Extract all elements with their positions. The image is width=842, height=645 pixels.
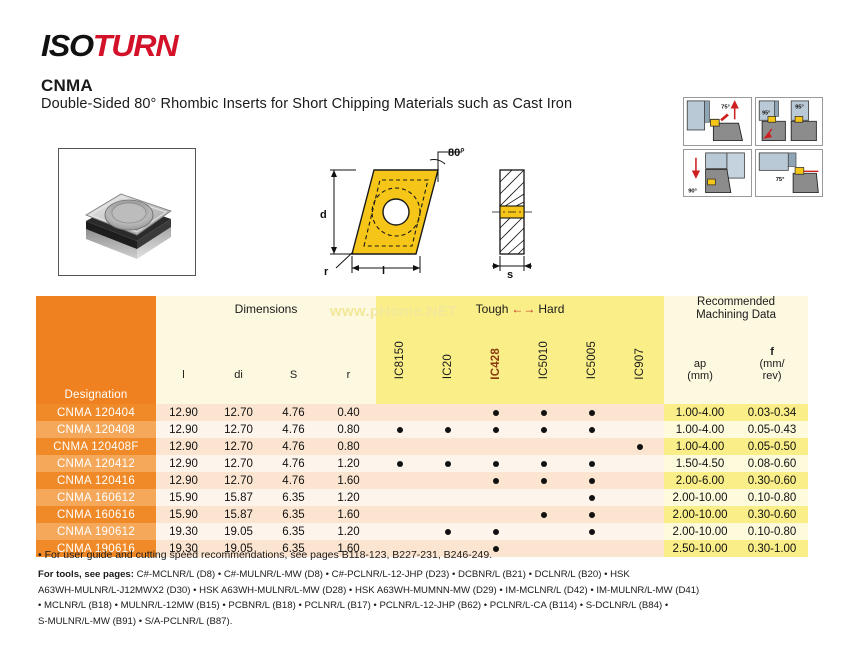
grade-dot-icon [541,407,547,419]
cell-grade-IC907 [616,489,664,506]
cell-dim-r: 1.20 [321,489,376,506]
label-r: r [324,266,329,278]
cell-grade-IC8150 [376,404,424,421]
ap-unit: (mm) [664,370,736,382]
cell-grade-IC20 [424,455,472,472]
grade-dot-icon [589,407,595,419]
holder-angle-2b: 95° [762,110,770,116]
cell-grade-IC5010 [520,472,568,489]
spacer-g0 [376,386,424,404]
cell-ap: 1.00-4.00 [664,438,736,455]
cell-grade-IC8150 [376,489,424,506]
cell-grade-IC8150 [376,506,424,523]
col-header-s: S [266,322,321,386]
cell-ap: 1.00-4.00 [664,421,736,438]
table-designation-label-row: Designation [36,386,808,404]
cell-dim-di: 12.70 [211,472,266,489]
holder-angle-3: 90° [688,188,697,194]
col-header-l: l [156,322,211,386]
cell-dim-l: 12.90 [156,404,211,421]
catalog-page: ISOTURN CNMA Double-Sided 80° Rhombic In… [0,0,842,645]
table-row[interactable]: CNMA 12040812.9012.704.760.801.00-4.000.… [36,421,808,438]
logo-text-turn: TURN [93,28,178,63]
specification-table-container: Dimensions Tough←→Hard Recommended Machi… [36,296,808,557]
page-title: CNMA [41,76,93,96]
table-body: CNMA 12040412.9012.704.760.401.00-4.000.… [36,404,808,557]
col-header-grade-ic428: IC428 [472,322,520,386]
cell-grade-IC8150 [376,455,424,472]
cell-f: 0.08-0.60 [736,455,808,472]
cell-grade-IC5005 [568,438,616,455]
grade-dot-icon [493,526,499,538]
cell-ap: 1.00-4.00 [664,404,736,421]
grade-dot-icon [541,475,547,487]
cell-designation: CNMA 160612 [36,489,156,506]
cell-dim-r: 0.40 [321,404,376,421]
cell-grade-IC5010 [520,489,568,506]
cell-dim-di: 19.05 [211,523,266,540]
tools-text-1: C#-MCLNR/L (D8) • C#-MULNR/L-MW (D8) • C… [134,569,630,580]
cell-designation: CNMA 120412 [36,455,156,472]
cell-grade-IC428 [472,472,520,489]
insert-dimension-drawing: r d l 80° [312,142,557,282]
cell-dim-S: 6.35 [266,523,321,540]
cell-f: 0.10-0.80 [736,523,808,540]
spacer-g4 [568,386,616,404]
cell-dim-r: 1.60 [321,506,376,523]
cell-dim-S: 6.35 [266,489,321,506]
grade-dot-icon [589,526,595,538]
cell-grade-IC5010 [520,421,568,438]
grade-dot-icon [397,424,403,436]
cell-grade-IC5005 [568,455,616,472]
grade-dot-icon [589,424,595,436]
cell-grade-IC907 [616,506,664,523]
cell-dim-di: 12.70 [211,455,266,472]
table-row[interactable]: CNMA 12041212.9012.704.761.201.50-4.500.… [36,455,808,472]
grade-dot-icon [493,424,499,436]
holder-svg-1: 75° [684,98,751,145]
cell-dim-S: 4.76 [266,404,321,421]
grade-dot-icon [445,424,451,436]
cell-dim-S: 4.76 [266,455,321,472]
cell-grade-IC20 [424,472,472,489]
col-header-f: f (mm/ rev) [736,322,808,386]
cell-f: 0.05-0.43 [736,421,808,438]
recommended-line1: Recommended [664,296,808,309]
cell-grade-IC428 [472,421,520,438]
cell-ap: 2.00-10.00 [664,506,736,523]
cell-dim-di: 15.87 [211,506,266,523]
specification-table: Dimensions Tough←→Hard Recommended Machi… [36,296,808,557]
spacer-ap [664,386,736,404]
label-tough: Tough [476,302,509,316]
holder-diagram-1: 75° [683,97,752,146]
cell-designation: CNMA 160616 [36,506,156,523]
cell-ap: 2.00-6.00 [664,472,736,489]
cell-dim-l: 12.90 [156,438,211,455]
tools-line-1: For tools, see pages: C#-MCLNR/L (D8) • … [38,567,820,583]
cell-grade-IC428 [472,489,520,506]
col-header-grade-ic5005: IC5005 [568,322,616,386]
holder-angle-4: 75° [775,177,784,183]
f-unit-1: (mm/ [736,358,808,370]
cell-designation: CNMA 190612 [36,523,156,540]
cell-f: 0.30-0.60 [736,472,808,489]
holder-svg-2: 95° 95° [756,98,823,145]
grade-dot-icon [541,458,547,470]
cell-dim-l: 12.90 [156,421,211,438]
col-header-r: r [321,322,376,386]
cell-designation: CNMA 120416 [36,472,156,489]
cell-grade-IC428 [472,438,520,455]
cell-ap: 2.00-10.00 [664,523,736,540]
tools-line-2: A63WH-MULNR/L-J12MWX2 (D30) • HSK A63WH-… [38,583,820,599]
grade-dot-icon [637,441,643,453]
grade-dot-icon [541,509,547,521]
cell-grade-IC20 [424,506,472,523]
cell-grade-IC8150 [376,472,424,489]
grade-dot-icon [493,407,499,419]
spacer-g3 [520,386,568,404]
spacer-dims [156,386,376,404]
holder-diagram-2: 95° 95° [755,97,824,146]
table-row[interactable]: CNMA 16061615.9015.876.351.602.00-10.000… [36,506,808,523]
tools-line-3: • MCLNR/L (B18) • MULNR/L-12MW (B15) • P… [38,598,820,614]
cell-dim-di: 15.87 [211,489,266,506]
cell-grade-IC8150 [376,438,424,455]
cell-grade-IC428 [472,404,520,421]
header-cell-designation-block [36,296,156,386]
holder-svg-4: 75° [756,150,823,197]
cell-dim-r: 1.20 [321,455,376,472]
cell-grade-IC5005 [568,523,616,540]
cell-grade-IC907 [616,472,664,489]
cell-grade-IC5010 [520,455,568,472]
ap-symbol: ap [694,358,706,370]
cell-grade-IC907 [616,438,664,455]
holder-diagram-3: 90° [683,149,752,198]
cell-grade-IC907 [616,455,664,472]
grade-dot-icon [589,458,595,470]
col-header-designation: Designation [36,386,156,404]
holder-angle-1: 75° [721,105,730,111]
cell-grade-IC5005 [568,489,616,506]
label-hard: Hard [538,302,564,316]
grade-dot-icon [445,458,451,470]
cell-dim-l: 12.90 [156,472,211,489]
cell-dim-l: 19.30 [156,523,211,540]
col-header-grade-ic20: IC20 [424,322,472,386]
grade-dot-icon [589,509,595,521]
cell-dim-l: 15.90 [156,489,211,506]
cell-dim-S: 4.76 [266,472,321,489]
cell-dim-l: 15.90 [156,506,211,523]
f-symbol: f [736,346,808,358]
cell-dim-S: 6.35 [266,506,321,523]
grade-dot-icon [397,458,403,470]
insert-side-view: s [492,170,534,281]
holder-diagram-4: 75° [755,149,824,198]
tools-line-4: S-MULNR/L-MW (B91) • S/A-PCLNR/L (B87). [38,614,820,630]
cell-ap: 2.00-10.00 [664,489,736,506]
cell-grade-IC8150 [376,421,424,438]
spacer-f [736,386,808,404]
cell-grade-IC5005 [568,421,616,438]
table-row[interactable]: CNMA 12041612.9012.704.761.602.00-6.000.… [36,472,808,489]
cell-dim-l: 12.90 [156,455,211,472]
spacer-g1 [424,386,472,404]
cell-f: 0.10-0.80 [736,489,808,506]
grade-dot-icon [493,458,499,470]
cell-dim-r: 1.60 [321,472,376,489]
header-recommended-machining: Recommended Machining Data [664,296,808,322]
cell-grade-IC5005 [568,472,616,489]
header-dimensions: Dimensions [156,296,376,322]
cell-grade-IC20 [424,421,472,438]
cell-grade-IC5010 [520,523,568,540]
cell-grade-IC907 [616,404,664,421]
cell-grade-IC428 [472,523,520,540]
table-row[interactable]: CNMA 120408F12.9012.704.760.801.00-4.000… [36,438,808,455]
table-group-header-row: Dimensions Tough←→Hard Recommended Machi… [36,296,808,322]
cell-grade-IC5010 [520,506,568,523]
logo-text-iso: ISO [41,28,93,63]
page-subtitle: Double-Sided 80° Rhombic Inserts for Sho… [41,96,572,112]
grade-dot-icon [541,424,547,436]
cell-dim-r: 0.80 [321,421,376,438]
cell-dim-S: 4.76 [266,421,321,438]
grade-dot-icon [589,492,595,504]
product-photo [58,148,196,276]
cell-grade-IC428 [472,506,520,523]
cell-dim-S: 4.76 [266,438,321,455]
label-s: s [507,269,513,281]
cell-dim-r: 0.80 [321,438,376,455]
cell-grade-IC907 [616,523,664,540]
cell-grade-IC5010 [520,404,568,421]
cell-dim-di: 12.70 [211,438,266,455]
cell-f: 0.03-0.34 [736,404,808,421]
label-d: d [320,209,327,221]
table-row[interactable]: CNMA 19061219.3019.056.351.202.00-10.000… [36,523,808,540]
cell-designation: CNMA 120408F [36,438,156,455]
tough-hard-arrow-icon: ←→ [508,302,538,316]
table-row[interactable]: CNMA 16061215.9015.876.351.202.00-10.000… [36,489,808,506]
cell-dim-r: 1.20 [321,523,376,540]
cell-grade-IC20 [424,489,472,506]
spacer-g2 [472,386,520,404]
col-header-grade-ic907: IC907 [616,322,664,386]
toolholder-application-diagrams: 75° 95° 95° [683,97,823,197]
tools-lead: For tools, see pages: [38,569,134,580]
cell-dim-di: 12.70 [211,421,266,438]
cell-f: 0.30-0.60 [736,506,808,523]
spacer-g5 [616,386,664,404]
cell-grade-IC428 [472,455,520,472]
insert-photo-illustration [59,149,196,276]
col-header-grade-ic8150: IC8150 [376,322,424,386]
grade-dot-icon [445,526,451,538]
cell-designation: CNMA 120404 [36,404,156,421]
cell-designation: CNMA 120408 [36,421,156,438]
col-header-grade-ic5010: IC5010 [520,322,568,386]
cell-grade-IC5010 [520,438,568,455]
holder-svg-3: 90° [684,150,751,197]
cell-grade-IC8150 [376,523,424,540]
cell-grade-IC20 [424,404,472,421]
cell-grade-IC5005 [568,506,616,523]
label-l: l [382,265,385,277]
holder-angle-2: 95° [795,105,804,111]
recommended-line2: Machining Data [664,309,808,322]
header-tough-hard: Tough←→Hard [376,296,664,322]
cell-grade-IC5005 [568,404,616,421]
dimension-diagram-svg: r d l 80° [312,142,557,282]
table-row[interactable]: CNMA 12040412.9012.704.760.401.00-4.000.… [36,404,808,421]
f-unit-2: rev) [736,370,808,382]
col-header-ap: ap (mm) [664,322,736,386]
label-angle-80: 80° [448,147,465,159]
cell-grade-IC20 [424,523,472,540]
grade-dot-icon [493,475,499,487]
grade-dot-icon [589,475,595,487]
cell-dim-di: 12.70 [211,404,266,421]
isoturn-logo: ISOTURN [41,30,177,61]
cell-ap: 1.50-4.50 [664,455,736,472]
col-header-di: di [211,322,266,386]
cell-grade-IC20 [424,438,472,455]
cell-f: 0.05-0.50 [736,438,808,455]
cell-grade-IC907 [616,421,664,438]
footnote-tools-block: For tools, see pages: C#-MCLNR/L (D8) • … [38,567,820,629]
footnote-user-guide: • For user guide and cutting speed recom… [38,549,818,561]
